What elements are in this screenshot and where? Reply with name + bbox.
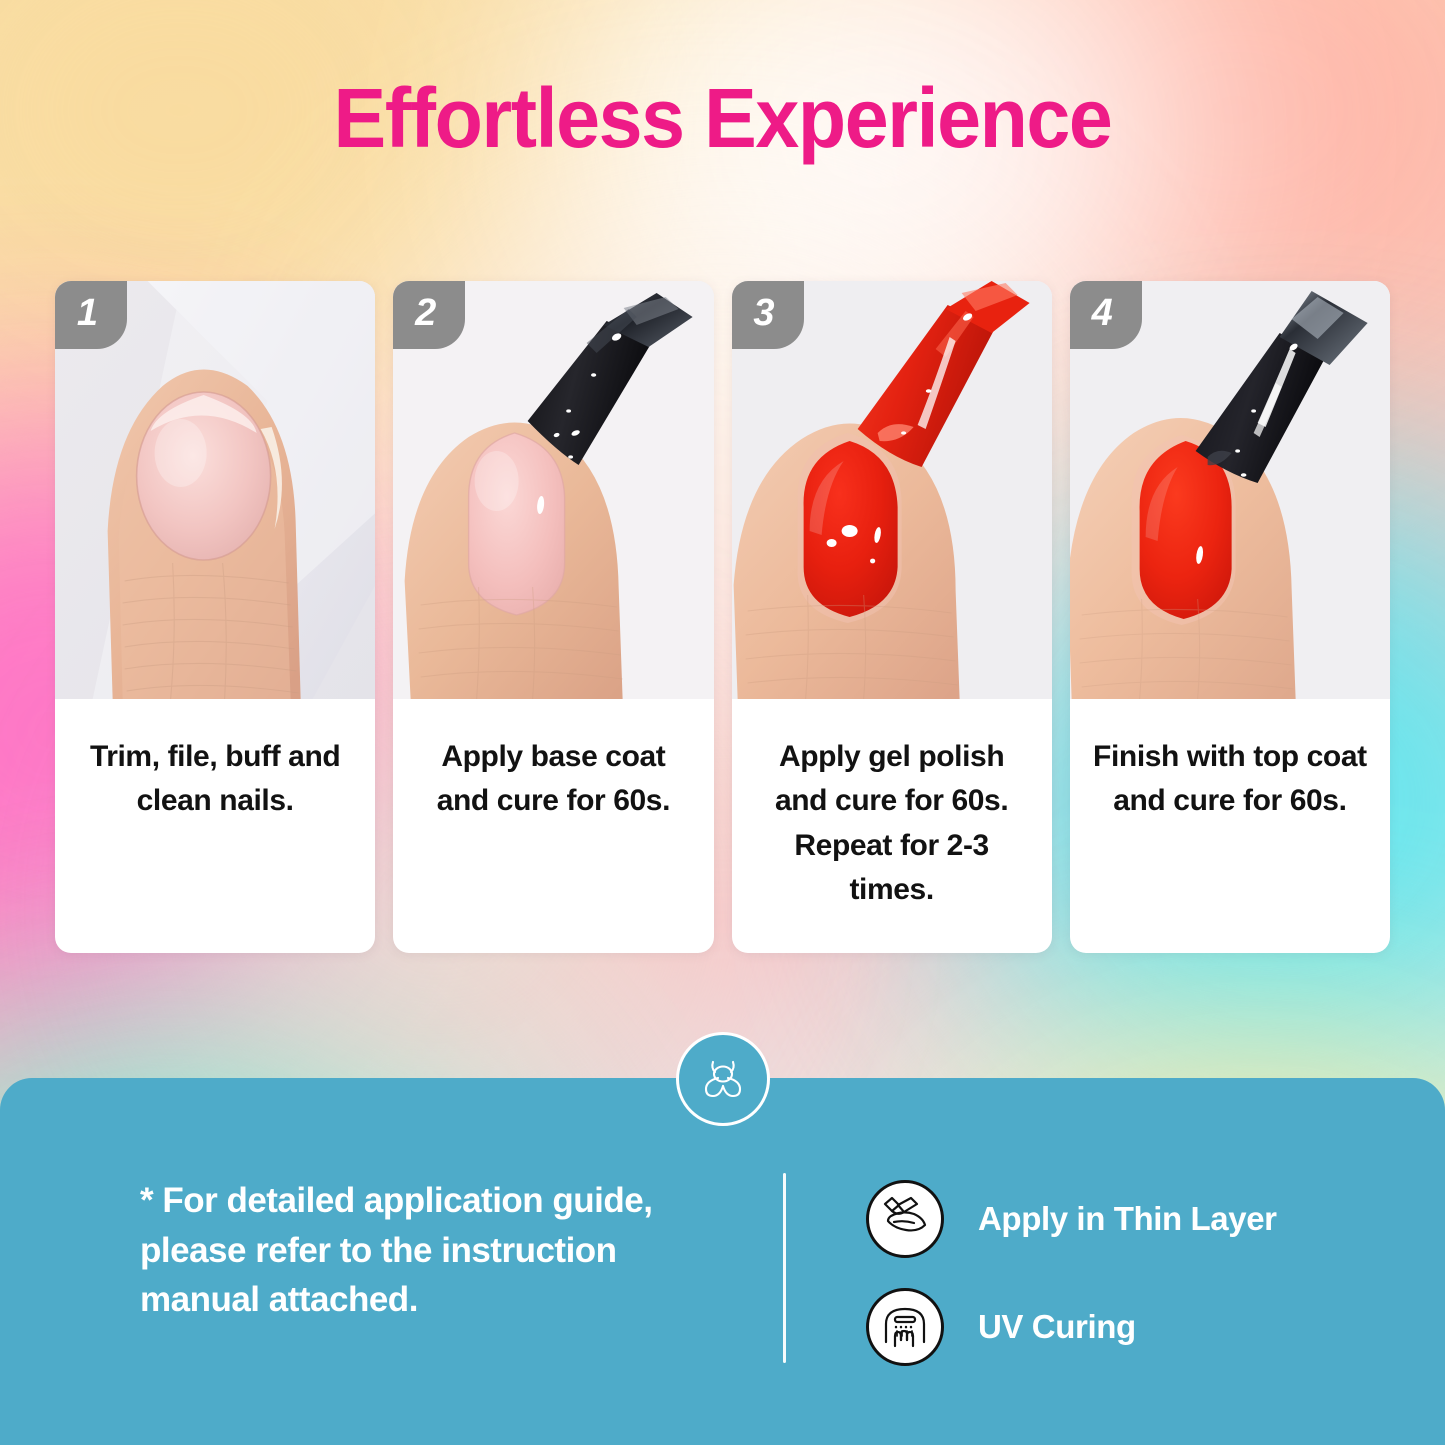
bee-logo-icon	[694, 1050, 752, 1108]
step-2-caption: Apply base coat and cure for 60s.	[393, 699, 713, 953]
step-1-photo: 1	[55, 281, 375, 699]
footer-band: * For detailed application guide, please…	[0, 1078, 1445, 1445]
step-4-caption: Finish with top coat and cure for 60s.	[1070, 699, 1390, 953]
brush-thin-layer-glyph	[878, 1192, 932, 1246]
step-2-photo: 2	[393, 281, 713, 699]
step-card-3[interactable]: 3 Apply gel polish and cure for 60s. Rep…	[732, 281, 1052, 953]
feature-label-apply-thin-layer: Apply in Thin Layer	[978, 1200, 1277, 1238]
step-card-4[interactable]: 4 Finish with top coat and cure for 60s.	[1070, 281, 1390, 953]
effortless-experience-infographic: Effortless Experience	[0, 0, 1445, 1445]
step-1-badge: 1	[55, 281, 127, 349]
feature-uv-curing: UV Curing	[866, 1288, 1277, 1366]
step-1-caption: Trim, file, buff and clean nails.	[55, 699, 375, 953]
page-title: Effortless Experience	[43, 76, 1401, 160]
step-3-photo: 3	[732, 281, 1052, 699]
feature-apply-thin-layer: Apply in Thin Layer	[866, 1180, 1277, 1258]
step-2-badge: 2	[393, 281, 465, 349]
brush-thin-layer-icon	[866, 1180, 944, 1258]
step-3-caption: Apply gel polish and cure for 60s. Repea…	[732, 699, 1052, 953]
footer-divider	[783, 1173, 786, 1363]
uv-lamp-icon	[866, 1288, 944, 1366]
step-card-1[interactable]: 1 Trim, file, buff and clean nails.	[55, 281, 375, 953]
step-4-badge: 4	[1070, 281, 1142, 349]
footer-note: * For detailed application guide, please…	[140, 1176, 740, 1325]
brand-logo-badge	[676, 1032, 770, 1126]
step-4-photo: 4	[1070, 281, 1390, 699]
uv-lamp-glyph	[878, 1300, 932, 1354]
step-3-badge: 3	[732, 281, 804, 349]
footer-features: Apply in Thin Layer	[866, 1180, 1277, 1366]
feature-label-uv-curing: UV Curing	[978, 1308, 1136, 1346]
steps-row: 1 Trim, file, buff and clean nails.	[55, 281, 1390, 953]
step-card-2[interactable]: 2 Apply base coat and cure for 60s.	[393, 281, 713, 953]
